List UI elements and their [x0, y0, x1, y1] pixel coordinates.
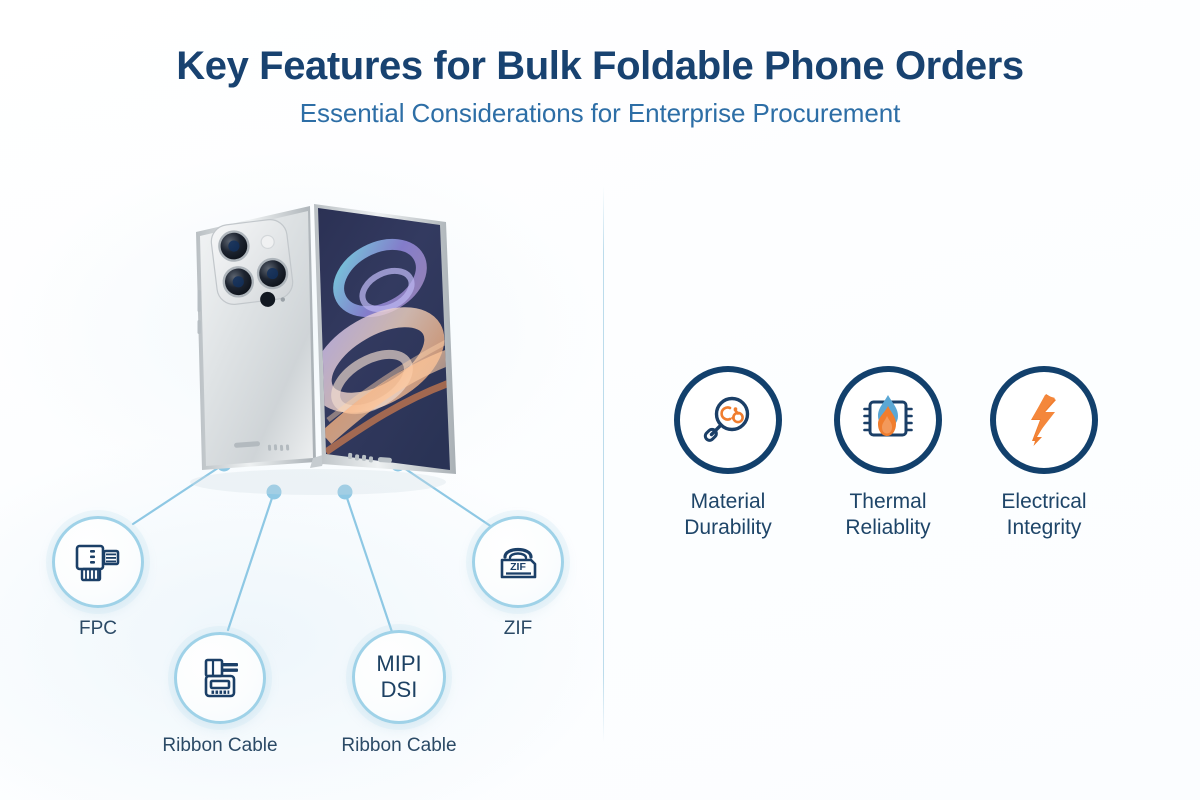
feature-label-electrical-integrity: Electrical Integrity: [969, 489, 1119, 540]
feature-ring-thermal-reliability: [834, 366, 942, 474]
lightning-bolt-icon: [1015, 389, 1073, 451]
callout-label-ribbon-cable: Ribbon Cable: [150, 735, 290, 757]
foldable-phone-image: [150, 170, 490, 500]
phone-screen-panel: [307, 204, 456, 474]
fpc-connector-icon: [71, 537, 125, 587]
vertical-divider: [603, 186, 604, 742]
infographic-canvas: Key Features for Bulk Foldable Phone Ord…: [0, 0, 1200, 800]
mipi-dsi-text: MIPIDSI: [376, 651, 421, 702]
feature-material-durability[interactable]: Material Durability: [653, 366, 803, 540]
magnifier-molecule-icon: [697, 389, 759, 451]
feature-ring-material-durability: [674, 366, 782, 474]
callout-bubble-mipi-dsi[interactable]: MIPIDSI: [352, 630, 446, 724]
page-subtitle: Essential Considerations for Enterprise …: [0, 98, 1200, 129]
callout-bubble-fpc[interactable]: [52, 516, 144, 608]
feature-label-thermal-reliability: Thermal Reliablity: [813, 489, 963, 540]
callout-bubble-zif[interactable]: ZIF: [472, 516, 564, 608]
zif-icon-label: ZIF: [510, 561, 526, 573]
page-title: Key Features for Bulk Foldable Phone Ord…: [0, 44, 1200, 89]
callout-label-mipi-dsi: Ribbon Cable: [329, 735, 469, 757]
feature-thermal-reliability[interactable]: Thermal Reliablity: [813, 366, 963, 540]
ribbon-cable-connector-icon: [194, 652, 246, 704]
feature-electrical-integrity[interactable]: Electrical Integrity: [969, 366, 1119, 540]
callout-label-fpc: FPC: [48, 618, 148, 640]
header: Key Features for Bulk Foldable Phone Ord…: [0, 44, 1200, 129]
feature-label-material-durability: Material Durability: [653, 489, 803, 540]
zif-lock-icon: ZIF: [491, 535, 545, 589]
callout-label-zif: ZIF: [468, 618, 568, 640]
camera-module: [209, 218, 294, 312]
phone-back-panel: [196, 206, 316, 470]
feature-ring-electrical-integrity: [990, 366, 1098, 474]
chip-flame-icon: [856, 389, 920, 451]
callout-bubble-ribbon-cable[interactable]: [174, 632, 266, 724]
